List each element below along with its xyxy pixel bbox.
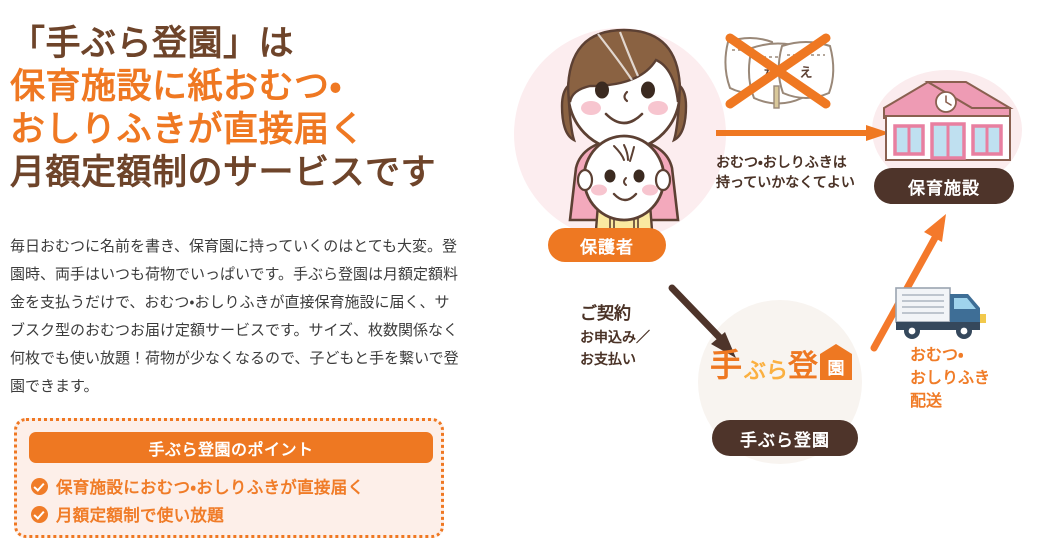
check-circle-icon bbox=[31, 478, 48, 495]
contract-title: ご契約 bbox=[580, 302, 650, 326]
service-label-pill: 手ぶら登園 bbox=[712, 420, 858, 456]
left-content-column: 「手ぶら登園」は 保育施設に紙おむつ・ おしりふきが直接届く 月額定額制のサービ… bbox=[0, 0, 470, 560]
page-title: 「手ぶら登園」は 保育施設に紙おむつ・ おしりふきが直接届く 月額定額制のサービ… bbox=[10, 22, 470, 194]
points-box: 手ぶら登園のポイント 保育施設におむつ・おしりふきが直接届く 月額定額制で使い放… bbox=[14, 418, 444, 538]
svg-text:手: 手 bbox=[710, 347, 742, 383]
guardian-label-pill: 保護者 bbox=[548, 228, 666, 262]
svg-text:え: え bbox=[799, 65, 812, 80]
point-label: 月額定額制で使い放題 bbox=[56, 502, 224, 526]
list-item: 保育施設におむつ・おしりふきが直接届く bbox=[31, 472, 441, 500]
check-circle-icon bbox=[31, 506, 48, 523]
infographic-page: 「手ぶら登園」は 保育施設に紙おむつ・ おしりふきが直接届く 月額定額制のサービ… bbox=[0, 0, 1038, 560]
delivery-line-1: おむつ・ bbox=[910, 344, 990, 367]
point-label: 保育施設におむつ・おしりふきが直接届く bbox=[56, 474, 364, 498]
no-carry-text: おむつ・おしりふきは 持っていかなくてよい bbox=[716, 152, 855, 192]
list-item: 月額定額制で使い放題 bbox=[31, 500, 441, 528]
tebura-tien-logo: 手 ぶ ら 登 園 bbox=[710, 342, 858, 390]
headline-line-1: 「手ぶら登園」は bbox=[10, 22, 470, 65]
svg-text:ら: ら bbox=[766, 358, 788, 383]
delivery-line-3: 配送 bbox=[910, 390, 990, 413]
headline-line-4: 月額定額制のサービスです bbox=[10, 151, 470, 194]
nursery-building-icon bbox=[880, 78, 1016, 166]
svg-text:登: 登 bbox=[787, 350, 819, 383]
contract-line-1: お申込み／ bbox=[580, 326, 650, 348]
facility-label-pill: 保育施設 bbox=[874, 168, 1014, 204]
no-carry-arrow bbox=[716, 124, 892, 142]
delivery-truck-icon bbox=[894, 284, 994, 342]
headline-line-3: おしりふきが直接届く bbox=[10, 108, 470, 151]
service-flow-diagram: 保護者 な え bbox=[470, 0, 1038, 560]
no-carry-line-2: 持っていかなくてよい bbox=[716, 172, 855, 192]
no-carry-line-1: おむつ・おしりふきは bbox=[716, 152, 855, 172]
points-box-header: 手ぶら登園のポイント bbox=[29, 432, 433, 463]
headline-line-2: 保育施設に紙おむつ・ bbox=[10, 65, 470, 108]
delivery-line-2: おしりふき bbox=[910, 367, 990, 390]
description-paragraph: 毎日おむつに名前を書き、保育園に持っていくのはとても大変。登園時、両手はいつも荷… bbox=[10, 233, 462, 401]
contract-text: ご契約 お申込み／ お支払い bbox=[580, 302, 650, 370]
contract-line-2: お支払い bbox=[580, 348, 650, 370]
guardian-illustration bbox=[536, 18, 712, 238]
delivery-text: おむつ・ おしりふき 配送 bbox=[910, 344, 990, 413]
svg-text:ぶ: ぶ bbox=[743, 358, 766, 383]
points-list: 保育施設におむつ・おしりふきが直接届く 月額定額制で使い放題 bbox=[31, 472, 441, 528]
crossed-out-diaper-icon: な え bbox=[716, 26, 840, 112]
svg-text:園: 園 bbox=[828, 359, 845, 378]
